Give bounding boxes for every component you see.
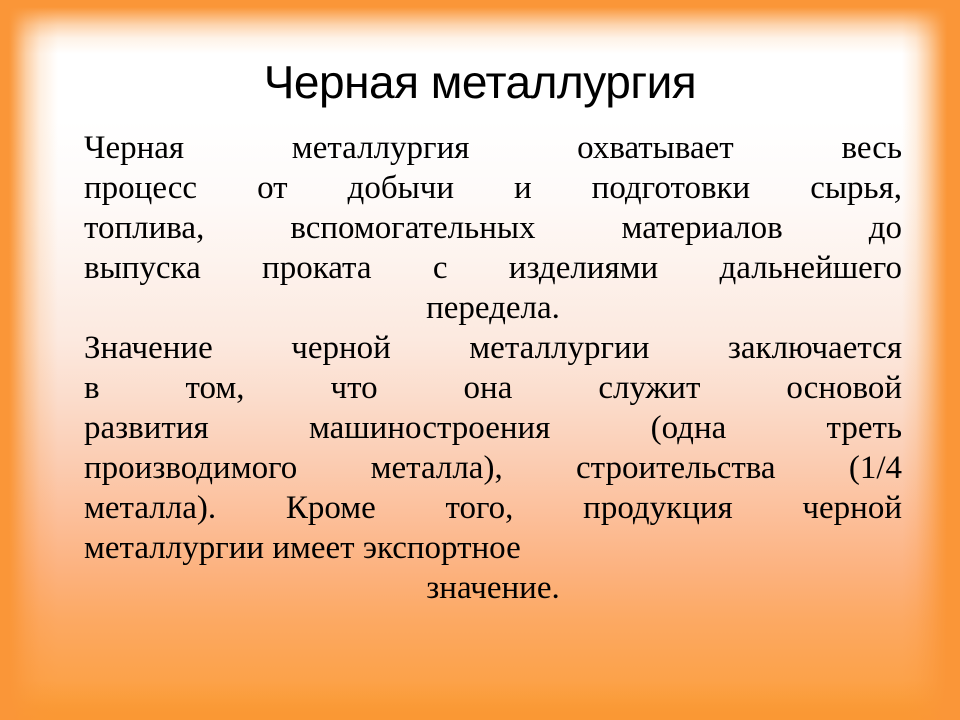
paragraph-2-line-3: развития машиностроения (одна треть (84, 408, 902, 448)
slide-body-text: Черная металлургия охватывает весь проце… (84, 128, 902, 608)
presentation-slide: Черная металлургия Черная металлургия ох… (0, 0, 960, 720)
paragraph-1: Черная металлургия охватывает весь проце… (84, 128, 902, 328)
paragraph-2-line-2: в том, что она служит основой (84, 368, 902, 408)
paragraph-1-line-4: выпуска проката с изделиями дальнейшего (84, 248, 902, 288)
slide-content: Черная металлургия Черная металлургия ох… (0, 0, 960, 720)
paragraph-1-line-2: процесс от добычи и подготовки сырья, (84, 168, 902, 208)
paragraph-1-line-3: топлива, вспомогательных материалов до (84, 208, 902, 248)
slide-title: Черная металлургия (40, 56, 920, 108)
paragraph-2-line-1: Значение черной металлургии заключается (84, 328, 902, 368)
paragraph-1-line-1: Черная металлургия охватывает весь (84, 128, 902, 168)
paragraph-2-line-6: металлургии имеет экспортное (84, 528, 902, 568)
paragraph-2-line-5: металла). Кроме того, продукция черной (84, 488, 902, 528)
paragraph-2: Значение черной металлургии заключается … (84, 328, 902, 608)
paragraph-1-line-5: передела. (84, 288, 902, 328)
paragraph-2-line-7: значение. (84, 568, 902, 608)
paragraph-2-line-4: производимого металла), строительства (1… (84, 448, 902, 488)
